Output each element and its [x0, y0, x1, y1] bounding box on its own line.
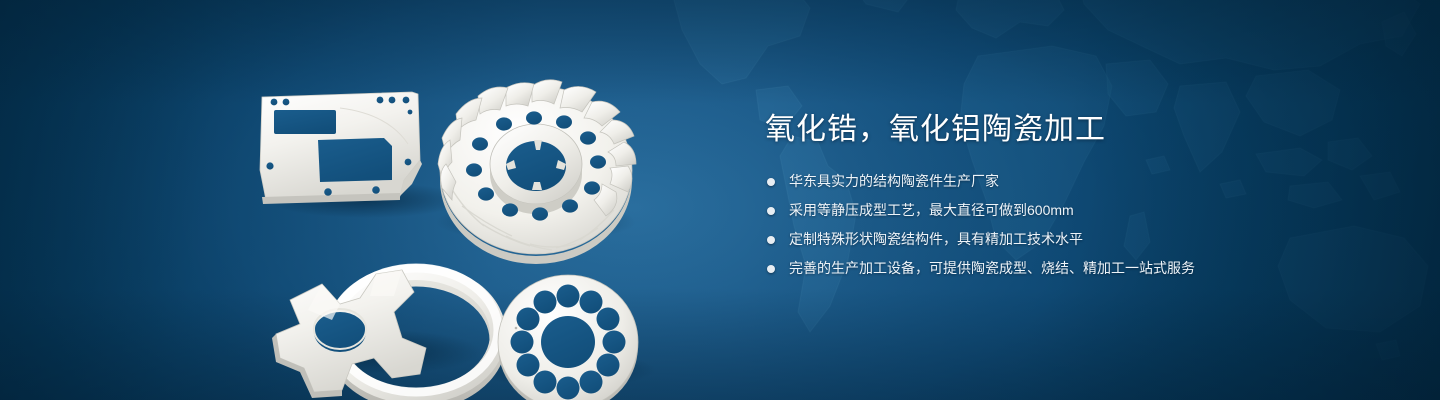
- page-title: 氧化锆，氧化铝陶瓷加工: [765, 112, 1385, 148]
- list-item: 完善的生产加工设备，可提供陶瓷成型、烧结、精加工一站式服务: [767, 259, 1385, 278]
- ceramic-impeller: [438, 80, 636, 264]
- bullet-dot-icon: [767, 207, 775, 215]
- list-item: 华东具实力的结构陶瓷件生产厂家: [767, 172, 1385, 191]
- feature-list: 华东具实力的结构陶瓷件生产厂家 采用等静压成型工艺，最大直径可做到600mm 定…: [767, 172, 1385, 278]
- list-item-label: 完善的生产加工设备，可提供陶瓷成型、烧结、精加工一站式服务: [789, 260, 1195, 276]
- list-item-label: 定制特殊形状陶瓷结构件，具有精加工技术水平: [789, 231, 1083, 247]
- ceramic-hole-disc: [498, 275, 638, 400]
- hero-banner: 氧化锆，氧化铝陶瓷加工 华东具实力的结构陶瓷件生产厂家 采用等静压成型工艺，最大…: [0, 0, 1440, 400]
- ceramic-machined-plate: [260, 92, 422, 204]
- banner-copy: 氧化锆，氧化铝陶瓷加工 华东具实力的结构陶瓷件生产厂家 采用等静压成型工艺，最大…: [765, 112, 1385, 278]
- bullet-dot-icon: [767, 178, 775, 186]
- list-item: 定制特殊形状陶瓷结构件，具有精加工技术水平: [767, 230, 1385, 249]
- ceramic-parts-photo: [236, 52, 716, 392]
- bullet-dot-icon: [767, 265, 775, 273]
- bullet-dot-icon: [767, 236, 775, 244]
- list-item-label: 采用等静压成型工艺，最大直径可做到600mm: [789, 202, 1074, 218]
- list-item: 采用等静压成型工艺，最大直径可做到600mm: [767, 201, 1385, 220]
- list-item-label: 华东具实力的结构陶瓷件生产厂家: [789, 173, 999, 189]
